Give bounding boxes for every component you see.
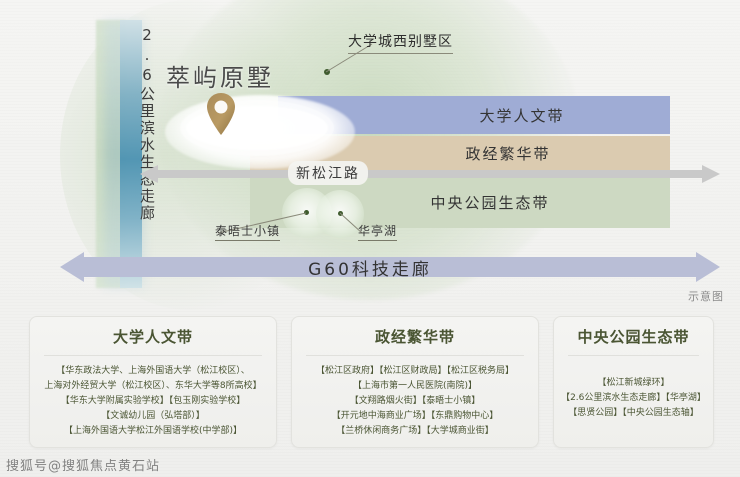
card-line: 【松江新城绿环】 (561, 376, 706, 391)
card-line: 【上海外国语大学松江外国语学校(中学部)】 (37, 424, 269, 439)
card-lines-university: 【华东政法大学、上海外国语大学（松江校区）、 上海对外经贸大学（松江校区）、东华… (30, 364, 276, 439)
card-university-humanities: 大学人文带 【华东政法大学、上海外国语大学（松江校区）、 上海对外经贸大学（松江… (29, 316, 277, 448)
card-political-economic: 政经繁华带 【松江区政府】【松江区财政局】【松江区税务局】 【上海市第一人民医院… (291, 316, 539, 448)
road-double-arrow (140, 162, 720, 186)
schematic-note: 示意图 (688, 288, 724, 304)
card-line: 【文翔路烟火街】【泰晤士小镇】 (299, 394, 531, 409)
card-title-university: 大学人文带 (30, 326, 276, 355)
belt-detail-cards: 大学人文带 【华东政法大学、上海外国语大学（松江校区）、 上海对外经贸大学（松江… (0, 316, 740, 456)
card-line: 【松江区政府】【松江区财政局】【松江区税务局】 (299, 364, 531, 379)
card-title-economic: 政经繁华带 (292, 326, 538, 355)
card-line: 【思贤公园】【中央公园生态轴】 (561, 406, 706, 421)
g60-corridor-label: G60科技走廊 (0, 250, 740, 284)
card-line: 【上海市第一人民医院(南院)】 (299, 379, 531, 394)
band-label-economic: 政经繁华带 (465, 143, 550, 164)
card-line: 【兰桥休闲商务广场】【大学城商业街】 (299, 424, 531, 439)
card-line: 【文诚幼儿园（弘塔部）】 (37, 409, 269, 424)
band-label-park: 中央公园生态带 (430, 192, 549, 213)
card-divider (44, 355, 262, 356)
spot-label-huating-lake: 华亭湖 (358, 222, 397, 241)
card-line: 【华东大学附属实验学校】【包玉刚实验学校】 (37, 394, 269, 409)
card-line: 【开元地中海商业广场】【东鼎购物中心】 (299, 409, 531, 424)
card-line: 【2.6公里滨水生态走廊】【华亭湖】 (561, 391, 706, 406)
card-lines-park: 【松江新城绿环】 【2.6公里滨水生态走廊】【华亭湖】 【思贤公园】【中央公园生… (554, 364, 713, 421)
waterfront-corridor-label: 2.6公里滨水生态走廊 (134, 26, 160, 276)
card-divider (306, 355, 524, 356)
band-label-university: 大学人文带 (479, 105, 564, 126)
card-lines-economic: 【松江区政府】【松江区财政局】【松江区税务局】 【上海市第一人民医院(南院)】 … (292, 364, 538, 439)
villa-callout-label: 大学城西别墅区 (348, 31, 453, 54)
card-title-park: 中央公园生态带 (554, 326, 713, 355)
map-pin-icon (205, 92, 237, 136)
card-divider (568, 355, 699, 356)
spot-label-thames-town: 泰晤士小镇 (215, 222, 280, 241)
diagram-page: 2.6公里滨水生态走廊 大学人文带 政经繁华带 中央公园生态带 萃屿原墅 (0, 0, 740, 477)
card-line: 上海对外经贸大学（松江校区）、东华大学等8所高校】 (37, 379, 269, 394)
location-diagram: 2.6公里滨水生态走廊 大学人文带 政经繁华带 中央公园生态带 萃屿原墅 (0, 0, 740, 312)
card-central-park-eco: 中央公园生态带 【松江新城绿环】 【2.6公里滨水生态走廊】【华亭湖】 【思贤公… (553, 316, 714, 448)
watermark-text: 搜狐号@搜狐焦点黄石站 (6, 455, 160, 474)
road-label-xinsongjiang: 新松江路 (288, 161, 368, 185)
card-line: 【华东政法大学、上海外国语大学（松江校区）、 (37, 364, 269, 379)
